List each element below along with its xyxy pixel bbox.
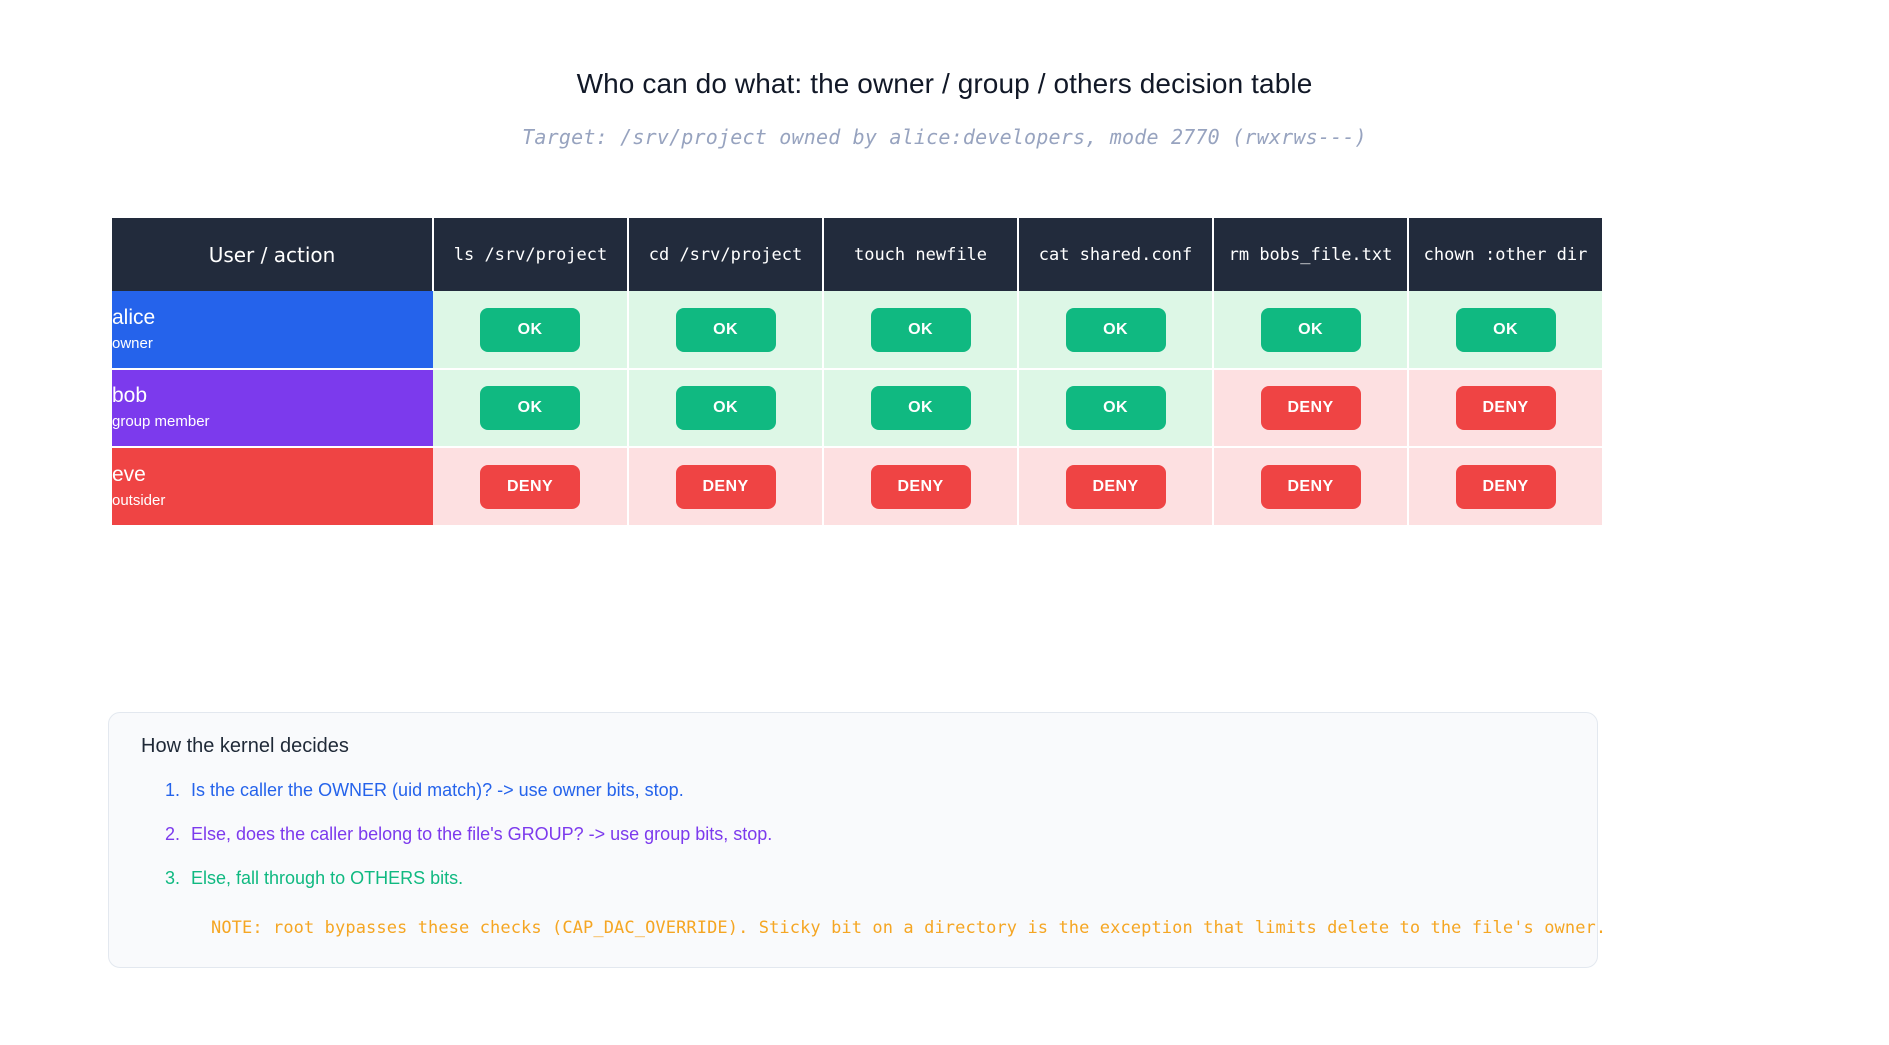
verdict-cell-bob-rm: DENY [1213, 369, 1408, 447]
verdict-cell-eve-cat: DENY [1018, 447, 1213, 525]
verdict-cell-alice-ls: OK [433, 291, 628, 369]
column-header-ls: ls /srv/project [433, 218, 628, 291]
verdict-cell-eve-cd: DENY [628, 447, 823, 525]
verdict-badge: DENY [676, 465, 776, 509]
verdict-badge: DENY [1261, 465, 1361, 509]
column-header-cat: cat shared.conf [1018, 218, 1213, 291]
verdict-cell-eve-rm: DENY [1213, 447, 1408, 525]
verdict-badge: OK [676, 308, 776, 352]
column-header-cd: cd /srv/project [628, 218, 823, 291]
page-title: Who can do what: the owner / group / oth… [0, 0, 1889, 100]
user-cell-bob: bob group member [112, 369, 433, 447]
list-item: Else, does the caller belong to the file… [185, 812, 1567, 856]
verdict-badge: OK [1066, 308, 1166, 352]
table-head: User / action ls /srv/project cd /srv/pr… [112, 218, 1602, 291]
column-header-touch: touch newfile [823, 218, 1018, 291]
table-row: alice owner OK OK OK OK OK [112, 291, 1602, 369]
table-body: alice owner OK OK OK OK OK [112, 291, 1602, 525]
verdict-cell-bob-cat: OK [1018, 369, 1213, 447]
verdict-cell-eve-touch: DENY [823, 447, 1018, 525]
verdict-badge: OK [1456, 308, 1556, 352]
verdict-badge: DENY [1066, 465, 1166, 509]
table-row: eve outsider DENY DENY DENY DENY DENY [112, 447, 1602, 525]
list-item: Is the caller the OWNER (uid match)? -> … [185, 768, 1567, 812]
verdict-badge: OK [871, 308, 971, 352]
list-item: Else, fall through to OTHERS bits. [185, 856, 1567, 900]
page-subtitle: Target: /srv/project owned by alice:deve… [0, 100, 1889, 149]
table-row: bob group member OK OK OK OK DENY [112, 369, 1602, 447]
verdict-badge: OK [480, 308, 580, 352]
verdict-cell-alice-rm: OK [1213, 291, 1408, 369]
user-role: group member [112, 411, 433, 433]
user-role: owner [112, 333, 433, 355]
decision-table: User / action ls /srv/project cd /srv/pr… [112, 218, 1602, 525]
verdict-badge: OK [871, 386, 971, 430]
column-header-chown: chown :other dir [1408, 218, 1602, 291]
verdict-badge: OK [480, 386, 580, 430]
verdict-cell-alice-cat: OK [1018, 291, 1213, 369]
user-name: alice [112, 305, 433, 331]
verdict-badge: OK [1066, 386, 1166, 430]
verdict-badge: DENY [1456, 386, 1556, 430]
column-header-rm: rm bobs_file.txt [1213, 218, 1408, 291]
user-name: bob [112, 383, 433, 409]
verdict-cell-bob-chown: DENY [1408, 369, 1602, 447]
user-cell-alice: alice owner [112, 291, 433, 369]
verdict-cell-bob-touch: OK [823, 369, 1018, 447]
panel-note: NOTE: root bypasses these checks (CAP_DA… [211, 918, 1567, 938]
user-role: outsider [112, 490, 433, 512]
kernel-decision-panel: How the kernel decides Is the caller the… [108, 712, 1598, 968]
verdict-cell-alice-cd: OK [628, 291, 823, 369]
verdict-badge: DENY [871, 465, 971, 509]
column-header-user-action: User / action [112, 218, 433, 291]
verdict-cell-bob-ls: OK [433, 369, 628, 447]
verdict-badge: DENY [1261, 386, 1361, 430]
decision-table-wrapper: User / action ls /srv/project cd /srv/pr… [112, 218, 1592, 525]
verdict-cell-bob-cd: OK [628, 369, 823, 447]
verdict-cell-eve-ls: DENY [433, 447, 628, 525]
verdict-badge: DENY [1456, 465, 1556, 509]
decision-steps-list: Is the caller the OWNER (uid match)? -> … [139, 768, 1567, 900]
verdict-cell-alice-chown: OK [1408, 291, 1602, 369]
table-header-row: User / action ls /srv/project cd /srv/pr… [112, 218, 1602, 291]
verdict-cell-alice-touch: OK [823, 291, 1018, 369]
user-name: eve [112, 462, 433, 488]
verdict-badge: OK [1261, 308, 1361, 352]
verdict-cell-eve-chown: DENY [1408, 447, 1602, 525]
verdict-badge: OK [676, 386, 776, 430]
panel-title: How the kernel decides [141, 735, 1567, 758]
verdict-badge: DENY [480, 465, 580, 509]
user-cell-eve: eve outsider [112, 447, 433, 525]
